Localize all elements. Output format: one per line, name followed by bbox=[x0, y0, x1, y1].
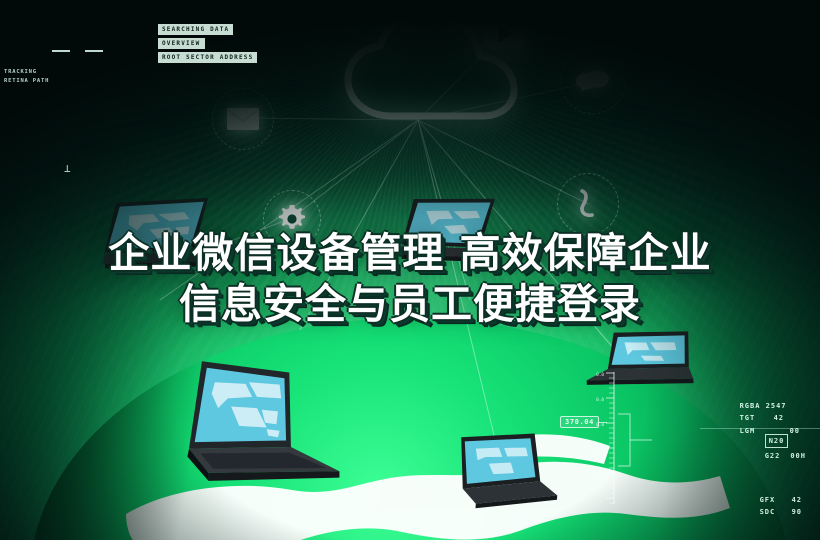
hud-n20-boxed: N20 bbox=[765, 434, 789, 448]
hud-tracking-label: TRACKING RETINA PATH bbox=[4, 68, 49, 87]
hud-key: TGT bbox=[740, 412, 766, 424]
hud-divider bbox=[700, 428, 820, 429]
hud-value: 42 bbox=[792, 494, 802, 506]
hud-panel-rgba: RGBA 2547 TGT 42 LGM 00 bbox=[740, 400, 800, 437]
hud-panel-n20: N20 G22 00H bbox=[765, 434, 806, 463]
hud-key: G22 bbox=[765, 450, 781, 462]
hud-value: 00H bbox=[790, 450, 806, 462]
svg-text:820.0: 820.0 bbox=[596, 447, 604, 453]
hud-tag-root-sector-address: ROOT SECTOR ADDRESS bbox=[158, 52, 257, 63]
hud-rgba-row-tgt: TGT 42 bbox=[740, 412, 800, 424]
hud-readout-value: 370.04 bbox=[560, 416, 599, 428]
svg-text:860.0: 860.0 bbox=[596, 397, 604, 403]
hud-value: 90 bbox=[792, 506, 802, 518]
dash-mark bbox=[85, 50, 103, 52]
svg-text:880.0: 880.0 bbox=[596, 372, 604, 378]
hud-gfx-row: GFX 42 bbox=[760, 494, 802, 506]
hud-value: 42 bbox=[774, 412, 784, 424]
hud-tee-marker: ⊥ bbox=[64, 164, 76, 173]
banner-stage: 企业微信设备管理 高效保障企业 信息安全与员工便捷登录 SEARCHING DA… bbox=[0, 0, 820, 540]
hud-dash-marks bbox=[52, 50, 103, 52]
hud-tag-searching-data: SEARCHING DATA bbox=[158, 24, 233, 35]
hud-n20-row-g22: G22 00H bbox=[765, 450, 806, 462]
hud-key: SDC bbox=[760, 506, 784, 518]
dash-mark bbox=[52, 50, 70, 52]
hud-key: GFX bbox=[760, 494, 784, 506]
hud-panel-gfx: GFX 42 SDC 90 bbox=[760, 494, 802, 519]
svg-text:800.0: 800.0 bbox=[596, 472, 604, 478]
hud-rgba-title: RGBA 2547 bbox=[740, 400, 800, 412]
hud-sdc-row: SDC 90 bbox=[760, 506, 802, 518]
hud-tag-overview: OVERVIEW bbox=[158, 38, 205, 49]
hud-tag-list: SEARCHING DATA OVERVIEW ROOT SECTOR ADDR… bbox=[158, 24, 257, 63]
hud-key: LGM bbox=[740, 425, 766, 437]
hud-vertical-ruler: 880.0860.0840.0820.0800.0 bbox=[596, 372, 652, 504]
vignette bbox=[0, 0, 820, 540]
